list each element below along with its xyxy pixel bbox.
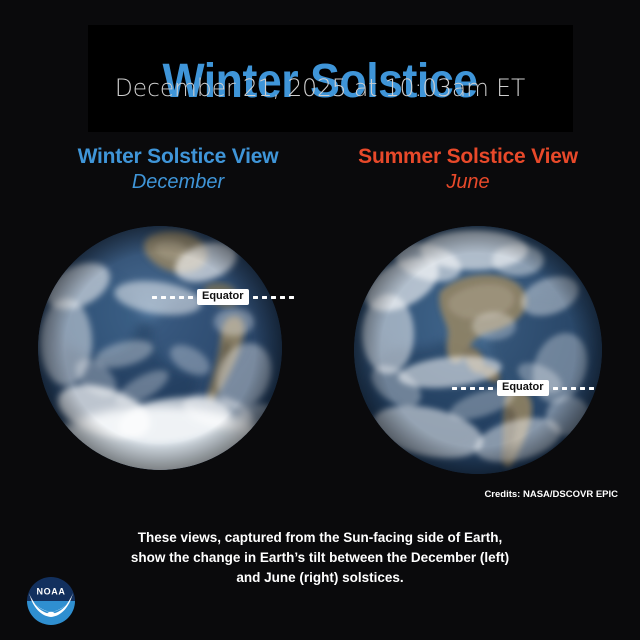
caption-block: These views, captured from the Sun-facin…: [0, 528, 640, 588]
column-heading-summer-month: June: [318, 169, 618, 195]
earth-globe-june: [354, 226, 602, 474]
column-heading-summer-label: Summer Solstice View: [318, 144, 618, 169]
credits-source: NASA/DSCOVR EPIC: [523, 489, 618, 500]
earth-december-image: [38, 226, 282, 470]
column-heading-winter: Winter Solstice View December: [28, 144, 328, 195]
infographic-canvas: Winter Solstice December 21, 2025 at 10:…: [0, 0, 640, 640]
page-subtitle: December 21, 2025 at 10:03am ET: [10, 74, 631, 102]
column-heading-summer: Summer Solstice View June: [318, 144, 618, 195]
caption-line-2: show the change in Earth’s tilt between …: [0, 548, 640, 568]
earth-globe-december: [38, 226, 282, 470]
caption-line-1: These views, captured from the Sun-facin…: [0, 528, 640, 548]
page-title-wrap: Winter Solstice: [0, 10, 640, 70]
column-heading-winter-month: December: [28, 169, 328, 195]
credits-line: Credits: NASA/DSCOVR EPIC: [484, 489, 618, 501]
dash-segment: [289, 296, 294, 299]
noaa-logo-icon: NOAA: [26, 576, 76, 626]
earth-june-image: [354, 226, 602, 474]
column-heading-winter-label: Winter Solstice View: [28, 144, 328, 169]
credits-label: Credits:: [484, 489, 520, 500]
noaa-logo-text: NOAA: [37, 587, 66, 597]
caption-line-3: and June (right) solstices.: [0, 568, 640, 588]
noaa-logo: NOAA: [26, 576, 76, 626]
